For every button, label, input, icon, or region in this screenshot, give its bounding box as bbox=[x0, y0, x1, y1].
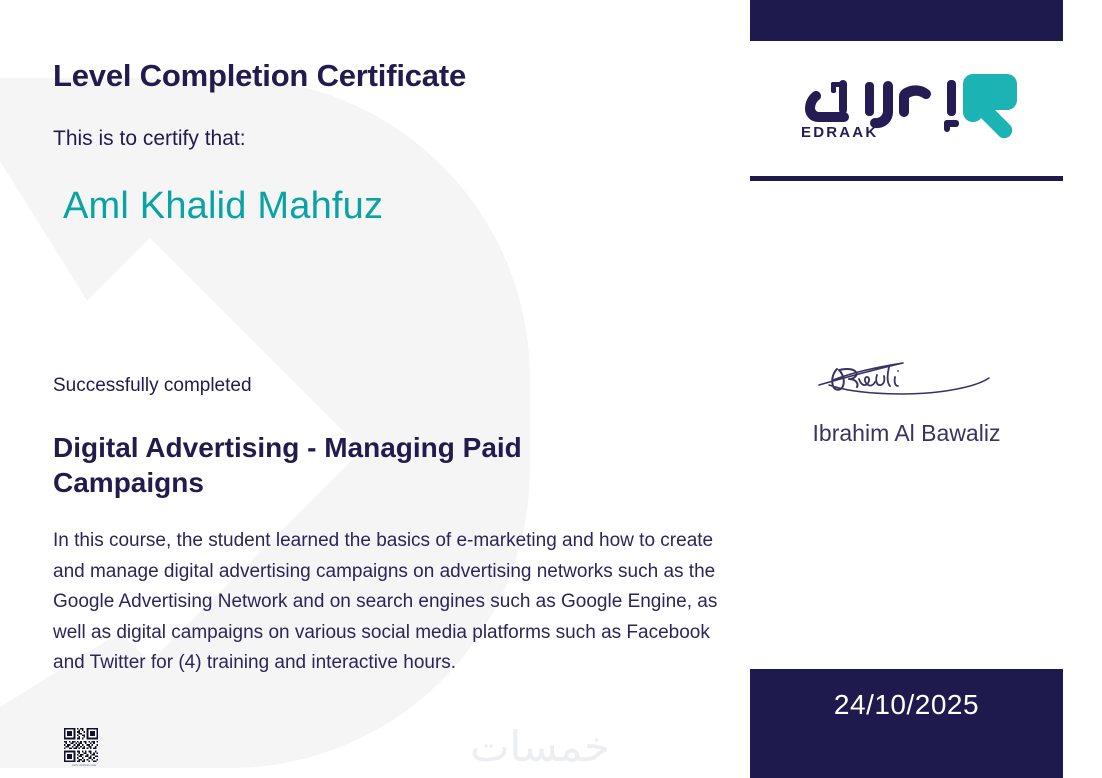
qr-code-block[interactable]: verify certificate code bbox=[64, 728, 104, 767]
header-divider bbox=[750, 176, 1063, 181]
course-description: In this course, the student learned the … bbox=[53, 526, 725, 679]
certificate-main-content: Level Completion Certificate This is to … bbox=[0, 0, 748, 778]
svg-text:EDRAAK: EDRAAK bbox=[801, 124, 878, 141]
completion-label: Successfully completed bbox=[53, 375, 252, 397]
edraak-logo: EDRAAK bbox=[750, 62, 1063, 148]
qr-code-icon[interactable] bbox=[64, 728, 98, 762]
top-accent-bar bbox=[750, 0, 1063, 41]
student-name: Aml Khalid Mahfuz bbox=[63, 185, 383, 228]
issue-date: 24/10/2025 bbox=[750, 689, 1063, 721]
course-title: Digital Advertising - Managing Paid Camp… bbox=[53, 430, 653, 500]
page-title: Level Completion Certificate bbox=[53, 58, 466, 94]
signatory-name: Ibrahim Al Bawaliz bbox=[748, 420, 1065, 447]
signature-icon bbox=[807, 353, 1007, 399]
issue-date-box: 24/10/2025 bbox=[750, 669, 1063, 778]
certificate-document: Level Completion Certificate This is to … bbox=[0, 0, 1102, 778]
certificate-side-panel: EDRAAK Ibrahim Al Bawaliz 24/10/20 bbox=[748, 0, 1102, 778]
certify-statement: This is to certify that: bbox=[53, 127, 246, 151]
qr-code-caption: verify certificate code bbox=[64, 764, 104, 767]
signature-mark bbox=[750, 352, 1063, 400]
edraak-logo-icon: EDRAAK bbox=[787, 68, 1027, 142]
khamsat-watermark: خمسات bbox=[470, 722, 610, 771]
